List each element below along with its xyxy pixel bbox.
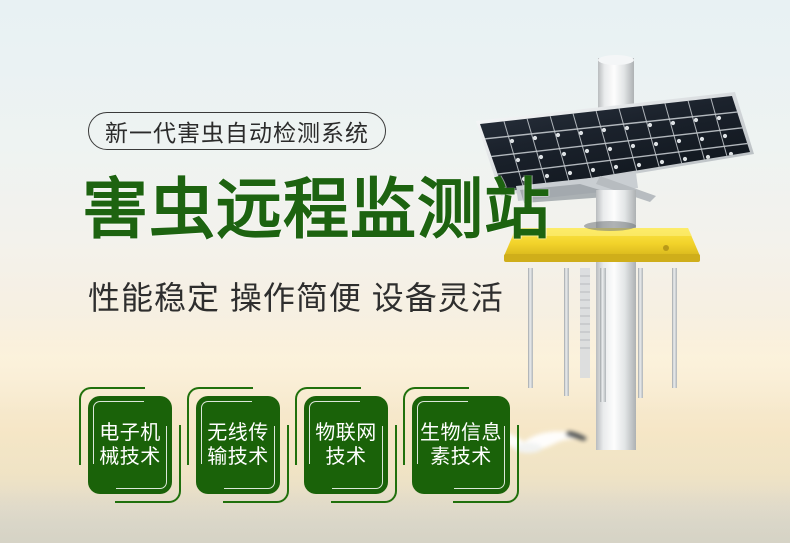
pole-cap bbox=[598, 55, 634, 65]
badge-label-line2: 技术 bbox=[326, 445, 367, 469]
cover-pole-shadow bbox=[584, 221, 636, 231]
feature-badge-iot[interactable]: 物联网 技术 bbox=[304, 396, 388, 494]
badge-label-line2: 素技术 bbox=[430, 445, 492, 469]
subtitle-text: 性能稳定 操作简便 设备灵活 bbox=[88, 282, 504, 314]
cover-rim bbox=[504, 254, 700, 262]
badge-label-line2: 械技术 bbox=[99, 445, 161, 469]
badge-label-line1: 物联网 bbox=[315, 421, 377, 445]
tagline-text: 新一代害虫自动检测系统 bbox=[105, 114, 369, 148]
feature-badge-electromechanical[interactable]: 电子机 械技术 bbox=[88, 396, 172, 494]
badge-label-line1: 无线传 bbox=[207, 421, 269, 445]
tagline-pill: 新一代害虫自动检测系统 bbox=[88, 112, 386, 150]
badge-label-line2: 输技术 bbox=[207, 445, 269, 469]
collection-rods bbox=[528, 268, 677, 402]
page-title: 害虫远程监测站 bbox=[82, 176, 551, 242]
feature-badge-list: 电子机 械技术 无线传 输技术 物联网 技术 生物信息 素技术 bbox=[88, 396, 510, 494]
product-banner: 新一代害虫自动检测系统 害虫远程监测站 性能稳定 操作简便 设备灵活 电子机 械… bbox=[0, 0, 790, 543]
cover-fastener bbox=[663, 245, 669, 251]
badge-label-line1: 生物信息 bbox=[420, 421, 502, 445]
feature-badge-pheromone[interactable]: 生物信息 素技术 bbox=[412, 396, 510, 494]
badge-label-line1: 电子机 bbox=[99, 421, 161, 445]
feature-badge-wireless-transmission[interactable]: 无线传 输技术 bbox=[196, 396, 280, 494]
